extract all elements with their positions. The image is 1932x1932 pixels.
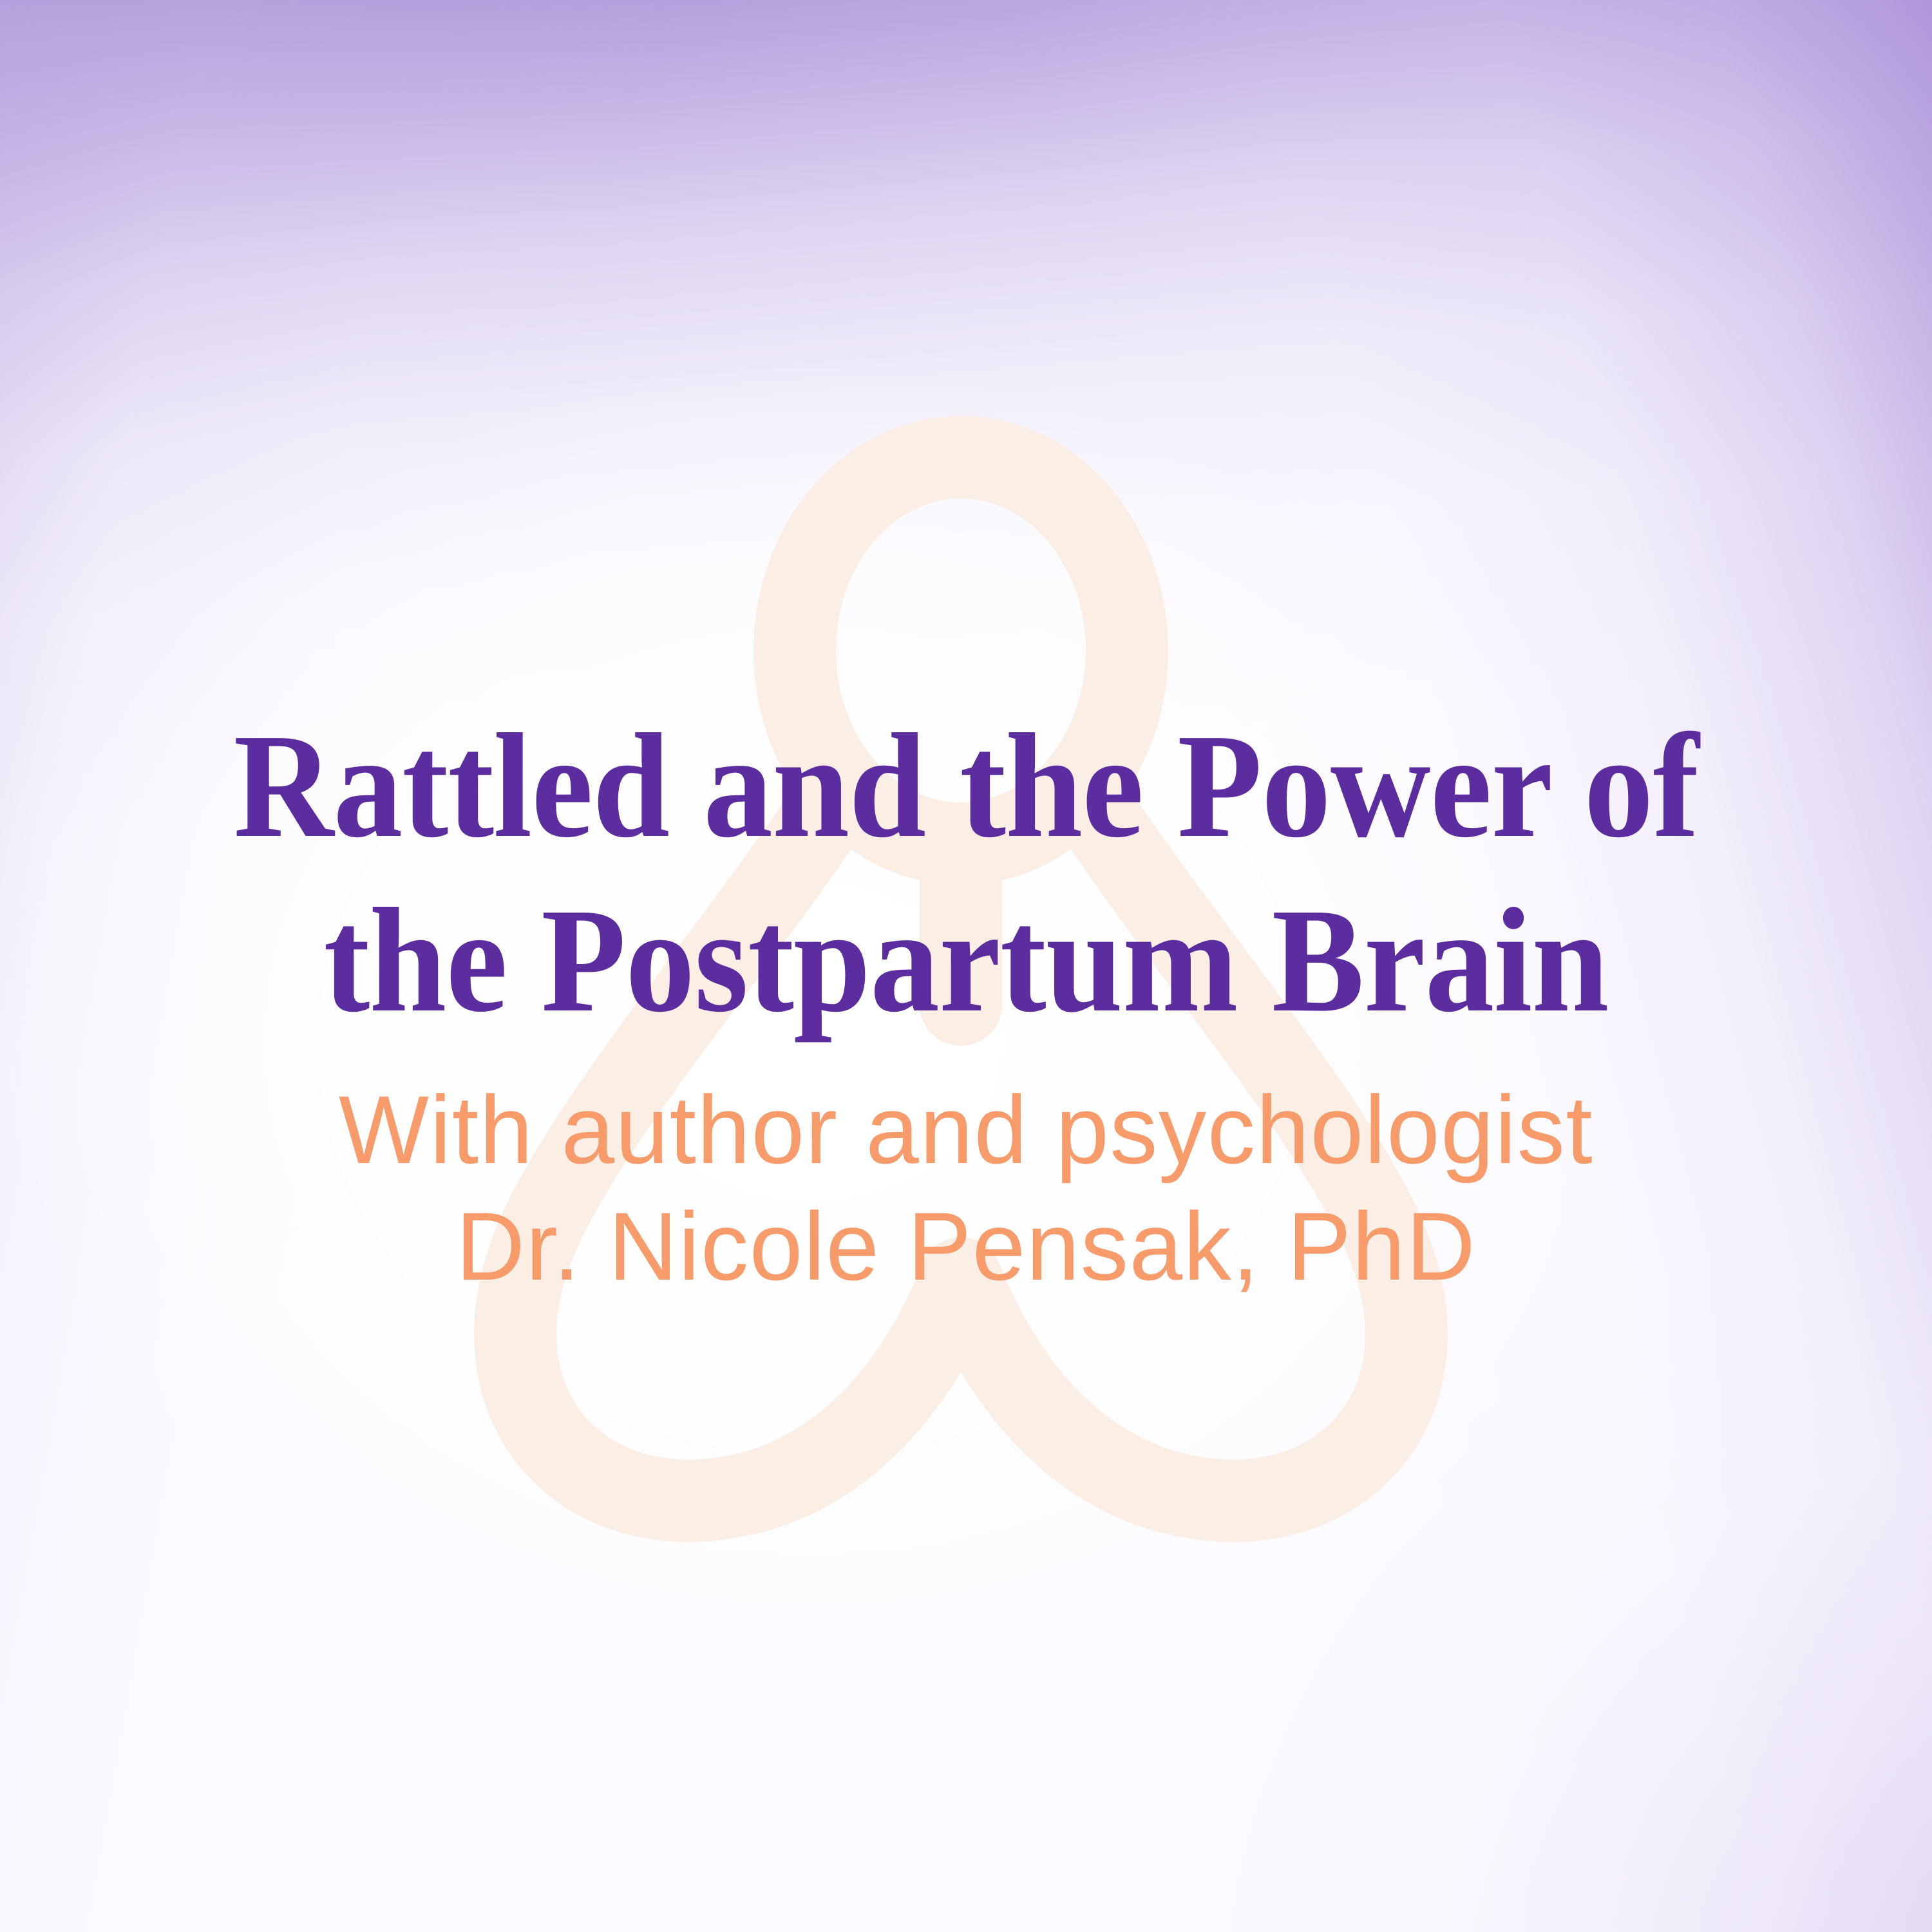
subtitle-line-2: Dr. Nicole Pensak, PhD <box>156 1188 1776 1305</box>
cover-text-block: Rattled and the Power of the Postpartum … <box>0 699 1932 1305</box>
title-line-2: the Postpartum Brain <box>229 873 1703 1048</box>
page-title: Rattled and the Power of the Postpartum … <box>229 699 1703 1048</box>
episode-subtitle: With author and psychologist Dr. Nicole … <box>156 1048 1776 1305</box>
subtitle-line-1: With author and psychologist <box>156 1072 1776 1189</box>
title-line-1: Rattled and the Power of <box>229 699 1703 873</box>
episode-cover-canvas: Rattled and the Power of the Postpartum … <box>0 0 1932 1932</box>
